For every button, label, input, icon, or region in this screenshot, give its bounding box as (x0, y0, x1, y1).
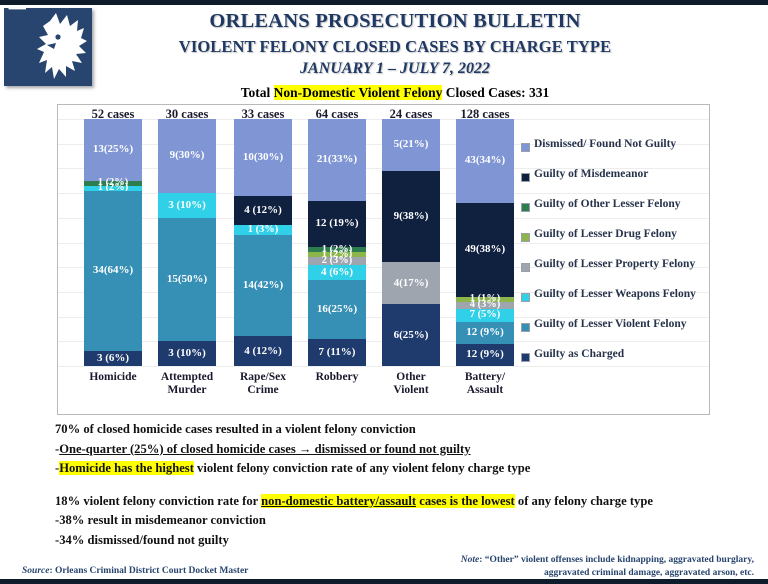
bar-segment[interactable]: 4 (6%) (308, 265, 366, 280)
bar-segment-label: 1 (3%) (248, 225, 279, 236)
bar-segment[interactable]: 7 (5%) (456, 309, 514, 321)
note-text: 18% violent felony conviction rate for (55, 494, 261, 508)
chart-legend: Dismissed/ Found Not GuiltyGuilty of Mis… (521, 140, 751, 380)
legend-label: Guilty of Lesser Property Felony (534, 258, 695, 270)
legend-swatch (521, 323, 530, 332)
bar-segment[interactable]: 34(64%) (84, 191, 142, 352)
bar-segment[interactable]: 3 (6%) (84, 351, 142, 366)
legend-item[interactable]: Guilty of Lesser Violent Felony (521, 320, 751, 350)
note-highlighted-text: cases is the lowest (416, 494, 515, 508)
bar-segment-label: (21%) (399, 139, 428, 150)
bar-segment-label: (38%) (476, 244, 505, 255)
note-text: of any felony charge type (515, 494, 653, 508)
bar-segment-label: (25%) (104, 144, 133, 155)
total-highlight: Non-Domestic Violent Felony (274, 85, 443, 100)
bar-column[interactable]: 128 cases43(34%)49(38%)1 (1%)4 (3%)7 (5%… (456, 105, 514, 414)
bar-segment-label: 13 (93, 144, 104, 155)
bar-segment[interactable]: 13(25%) (84, 119, 142, 181)
bar-segment-label: (42%) (254, 280, 283, 291)
bar-segment-label: (64%) (104, 265, 133, 276)
bar-category-label: Battery/Assault (442, 371, 528, 397)
bar-segment-label: 43 (465, 155, 476, 166)
bar-segment-label: 7 (11%) (319, 347, 356, 358)
bar-segment-label: 12 (9%) (466, 349, 504, 360)
bar-segment[interactable]: 3 (10%) (158, 193, 216, 218)
bar-segment-label: (30%) (175, 150, 204, 161)
bar-segment[interactable]: 21(33%) (308, 119, 366, 201)
bar-segment-label: (25%) (399, 330, 428, 341)
note-line: -34% dismissed/found not guilty (55, 531, 735, 551)
source-text: : Orleans Criminal District Court Docket… (49, 566, 248, 576)
bar-segment-label: (17%) (399, 278, 428, 289)
bar-columns: 52 cases13(25%)1 (2%)1 (2%)34(64%)3 (6%)… (58, 105, 508, 414)
bar-segment-label: 15 (167, 274, 178, 285)
stacked-bar[interactable]: 5(21%)9(38%)4(17%)6(25%) (382, 119, 440, 366)
bar-category-label: AttemptedMurder (144, 371, 230, 397)
legend-item[interactable]: Guilty of Misdemeanor (521, 170, 751, 200)
note-line: -One-quarter (25%) of closed homicide ca… (55, 440, 735, 460)
bar-segment-label: 3 (10%) (168, 348, 206, 359)
bar-segment[interactable]: 2 (3%) (308, 257, 366, 264)
legend-swatch (521, 293, 530, 302)
bar-segment[interactable]: 12 (19%) (308, 201, 366, 248)
bar-segment[interactable]: 9(30%) (158, 119, 216, 193)
total-prefix: Total (241, 85, 274, 100)
bar-column[interactable]: 24 cases5(21%)9(38%)4(17%)6(25%)OtherVio… (382, 105, 440, 414)
legend-label: Guilty of Lesser Drug Felony (534, 228, 677, 240)
bar-segment-label: (25%) (328, 304, 357, 315)
legend-item[interactable]: Guilty of Lesser Drug Felony (521, 230, 751, 260)
top-border-bar (0, 0, 768, 5)
legend-item[interactable]: Guilty of Lesser Weapons Felony (521, 290, 751, 320)
bar-segment[interactable]: 3 (10%) (158, 341, 216, 366)
bar-segment[interactable]: 6(25%) (382, 304, 440, 366)
bar-segment[interactable]: 7 (11%) (308, 339, 366, 366)
legend-swatch (521, 263, 530, 272)
bar-column[interactable]: 52 cases13(25%)1 (2%)1 (2%)34(64%)3 (6%)… (84, 105, 142, 414)
total-cases-line: Total Non-Domestic Violent Felony Closed… (95, 85, 695, 101)
note-line: -Homicide has the highest violent felony… (55, 459, 735, 479)
mcc-logo-text: MCC (6, 8, 30, 14)
note-footer: Note: “Other” violent offenses include k… (454, 554, 754, 580)
bar-segment-label: 49 (465, 244, 476, 255)
bottom-border-bar (0, 579, 768, 584)
bar-segment-label: 3 (6%) (97, 353, 129, 364)
total-suffix: Closed Cases: 331 (442, 85, 549, 100)
note-highlighted-underlined-text: non-domestic battery/assault (261, 494, 416, 508)
page-title: ORLEANS PROSECUTION BULLETIN (95, 10, 695, 33)
bar-segment[interactable]: 14(42%) (234, 235, 292, 336)
note-underlined-text: One-quarter (25%) of closed homicide cas… (59, 442, 470, 456)
legend-swatch (521, 353, 530, 362)
bar-segment-label: (38%) (399, 211, 428, 222)
bar-segment-label: 3 (10%) (168, 200, 206, 211)
bar-segment[interactable]: 16(25%) (308, 280, 366, 339)
note-text: violent felony conviction rate of any vi… (194, 461, 530, 475)
bar-segment[interactable]: 49(38%) (456, 203, 514, 297)
bar-segment-label: 4 (6%) (321, 267, 353, 278)
legend-label: Guilty of Other Lesser Felony (534, 198, 681, 210)
bar-segment[interactable]: 10(30%) (234, 119, 292, 196)
source-label: Source (22, 566, 49, 576)
stacked-bar[interactable]: 21(33%)12 (19%)1 (2%)1 (2%)2 (3%)4 (6%)1… (308, 119, 366, 366)
legend-label: Dismissed/ Found Not Guilty (534, 138, 676, 150)
bar-segment-label: (50%) (178, 274, 207, 285)
bar-segment[interactable]: 4(17%) (382, 262, 440, 304)
bar-segment[interactable]: 43(34%) (456, 119, 514, 203)
bar-segment[interactable]: 15(50%) (158, 218, 216, 342)
legend-label: Guilty of Misdemeanor (534, 168, 648, 180)
note-spacer (55, 479, 735, 492)
mcc-logo: MCC (4, 8, 92, 86)
bar-segment-label: 12 (9%) (466, 327, 504, 338)
bar-segment[interactable]: 4 (12%) (234, 336, 292, 366)
bar-segment-label: (34%) (476, 155, 505, 166)
bar-segment[interactable]: 4 (12%) (234, 196, 292, 226)
legend-label: Guilty of Lesser Weapons Felony (534, 288, 696, 300)
legend-item[interactable]: Guilty of Lesser Property Felony (521, 260, 751, 290)
bar-segment-label: (33%) (328, 154, 357, 165)
legend-item[interactable]: Guilty as Charged (521, 350, 751, 380)
stacked-bar[interactable]: 13(25%)1 (2%)1 (2%)34(64%)3 (6%) (84, 119, 142, 366)
legend-swatch (521, 143, 530, 152)
stacked-bar[interactable]: 9(30%)3 (10%)15(50%)3 (10%) (158, 119, 216, 366)
source-footer: Source: Orleans Criminal District Court … (22, 566, 248, 576)
note-highlighted-text: Homicide has the highest (59, 461, 194, 475)
page-subtitle: VIOLENT FELONY CLOSED CASES BY CHARGE TY… (95, 37, 695, 57)
bar-segment[interactable]: 5(21%) (382, 119, 440, 171)
legend-swatch (521, 203, 530, 212)
note-text: : “Other” violent offenses include kidna… (479, 555, 754, 578)
stacked-bar[interactable]: 43(34%)49(38%)1 (1%)4 (3%)7 (5%)12 (9%)1… (456, 119, 514, 366)
bar-segment-label: 14 (243, 280, 254, 291)
note-line: 18% violent felony conviction rate for n… (55, 492, 735, 512)
bar-segment-label: 4 (12%) (244, 205, 282, 216)
bar-segment-label: 7 (5%) (470, 310, 501, 321)
note-line: 70% of closed homicide cases resulted in… (55, 420, 735, 440)
bar-segment-label: 4 (12%) (244, 346, 282, 357)
note-line: -38% result in misdemeanor conviction (55, 511, 735, 531)
legend-swatch (521, 233, 530, 242)
bar-segment-label: 34 (93, 265, 104, 276)
analysis-notes: 70% of closed homicide cases resulted in… (55, 420, 735, 550)
legend-label: Guilty as Charged (534, 348, 624, 360)
legend-swatch (521, 173, 530, 182)
bar-segment[interactable]: 9(38%) (382, 171, 440, 262)
bar-segment[interactable]: 12 (9%) (456, 344, 514, 366)
bar-segment[interactable]: 12 (9%) (456, 322, 514, 344)
bar-segment-label: 16 (317, 304, 328, 315)
legend-item[interactable]: Guilty of Other Lesser Felony (521, 200, 751, 230)
bar-segment-label: 10 (243, 152, 254, 163)
note-label: Note (461, 555, 479, 565)
bar-column[interactable]: 33 cases10(30%)4 (12%)1 (3%)14(42%)4 (12… (234, 105, 292, 414)
legend-item[interactable]: Dismissed/ Found Not Guilty (521, 140, 751, 170)
bar-segment-label: (30%) (254, 152, 283, 163)
bar-segment[interactable]: 1 (3%) (234, 225, 292, 235)
bar-column[interactable]: 64 cases21(33%)12 (19%)1 (2%)1 (2%)2 (3%… (308, 105, 366, 414)
bar-segment-label: 21 (317, 154, 328, 165)
stacked-bar[interactable]: 10(30%)4 (12%)1 (3%)14(42%)4 (12%) (234, 119, 292, 366)
bar-segment-label: 12 (19%) (315, 218, 358, 229)
legend-label: Guilty of Lesser Violent Felony (534, 318, 686, 330)
bar-column[interactable]: 30 cases9(30%)3 (10%)15(50%)3 (10%)Attem… (158, 105, 216, 414)
date-range: JANUARY 1 – JULY 7, 2022 (95, 60, 695, 78)
wolf-head-icon (34, 11, 90, 83)
